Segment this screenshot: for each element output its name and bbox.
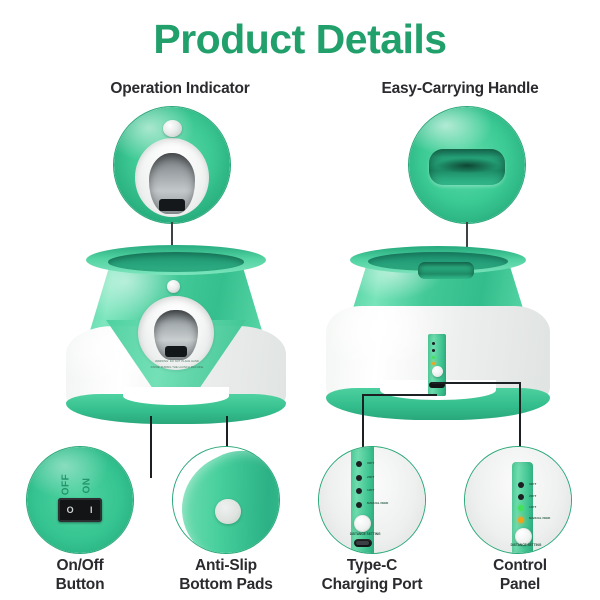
leader-line-onoff-button [150,416,152,478]
product-led-10ft [432,356,435,359]
caption-onoff-button: On/Off Button [20,556,140,594]
product-indicator-led [167,280,180,293]
product-top-rim [86,245,266,275]
caption-antislip-line2: Bottom Pads [156,575,296,594]
rocker-switch-icon[interactable]: O I [58,498,103,522]
callout-label-carry-handle: Easy-Carrying Handle [330,80,590,98]
callout-label-operation-indicator: Operation Indicator [40,80,320,98]
caption-onoff-line1: On/Off [20,556,140,575]
usbc-led-30ft [356,461,362,467]
detail-circle-anti-slip-pads[interactable] [172,446,280,554]
panel-distance-button[interactable] [515,528,532,545]
usbc-led-label-20ft: 20FT [367,475,374,479]
product-carry-handle [418,262,474,279]
usbc-distance-button-label: DISTANCE SETTING [350,532,381,536]
launch-bore [149,153,195,213]
detail-circle-onoff-button[interactable]: OFF ON O I [26,446,134,554]
page-title: Product Details [0,16,600,63]
onoff-label-off: OFF [60,474,71,496]
panel-distance-button-label: DISTANCE SETTING [511,543,542,547]
panel-led-label-20ft: 20FT [529,494,536,498]
rocker-off-symbol: O [67,505,74,515]
product-base-foot [66,394,286,424]
caption-control-panel: Control Panel [460,556,580,594]
usbc-led-20ft [356,475,362,481]
anti-slip-pad-icon [215,499,240,524]
caption-usb-c-port: Type-C Charging Port [302,556,442,594]
leader-line-control-panel-horizontal [432,382,520,384]
detail-circle-operation-indicator[interactable] [113,106,231,224]
product-distance-button [432,366,443,377]
caption-panel-line2: Panel [460,575,580,594]
caption-anti-slip-pads: Anti-Slip Bottom Pads [156,556,296,594]
usbc-distance-button[interactable] [354,515,371,532]
infographic-canvas: Product Details Operation Indicator Easy… [0,0,600,600]
caption-usbc-line1: Type-C [302,556,442,575]
panel-led-label-manual: MANUAL FEED [529,516,550,520]
detail-circle-control-panel[interactable]: 30FT 20FT 10FT MANUAL FEED DISTANCE SETT… [464,446,572,554]
product-launch-bore [154,310,198,360]
product-warning-text-line2: INSIDE DURING THE LAUNCH MACHINE [134,366,220,370]
panel-led-20ft [518,494,524,500]
usbc-led-label-10ft: 10FT [367,488,374,492]
usbc-led-label-30ft: 30FT [367,461,374,465]
rocker-on-symbol: I [90,505,93,515]
product-led-20ft [432,349,435,352]
usbc-led-label-manual: MANUAL FEED [367,501,388,505]
panel-led-30ft [518,482,524,488]
panel-led-label-10ft: 10FT [529,505,536,509]
caption-panel-line1: Control [460,556,580,575]
panel-led-label-30ft: 30FT [529,482,536,486]
caption-antislip-line1: Anti-Slip [156,556,296,575]
product-led-30ft [432,342,435,345]
detail-circle-carry-handle[interactable] [408,106,526,224]
usb-c-socket-icon [354,539,372,547]
caption-usbc-line2: Charging Port [302,575,442,594]
product-image-front: WARNING: DO NOT PLACE HAND INSIDE DURING… [60,248,292,428]
handle-grip-icon [429,149,506,185]
caption-onoff-line2: Button [20,575,140,594]
leader-line-usb-c-horizontal [362,394,437,396]
detail-circle-usb-c-port[interactable]: 30FT 20FT 10FT MANUAL FEED DISTANCE SETT… [318,446,426,554]
onoff-label-on: ON [81,477,92,493]
product-warning-text-line1: WARNING: DO NOT PLACE HAND [134,360,220,364]
panel-led-manual [518,517,524,523]
product-led-manual [432,362,435,365]
